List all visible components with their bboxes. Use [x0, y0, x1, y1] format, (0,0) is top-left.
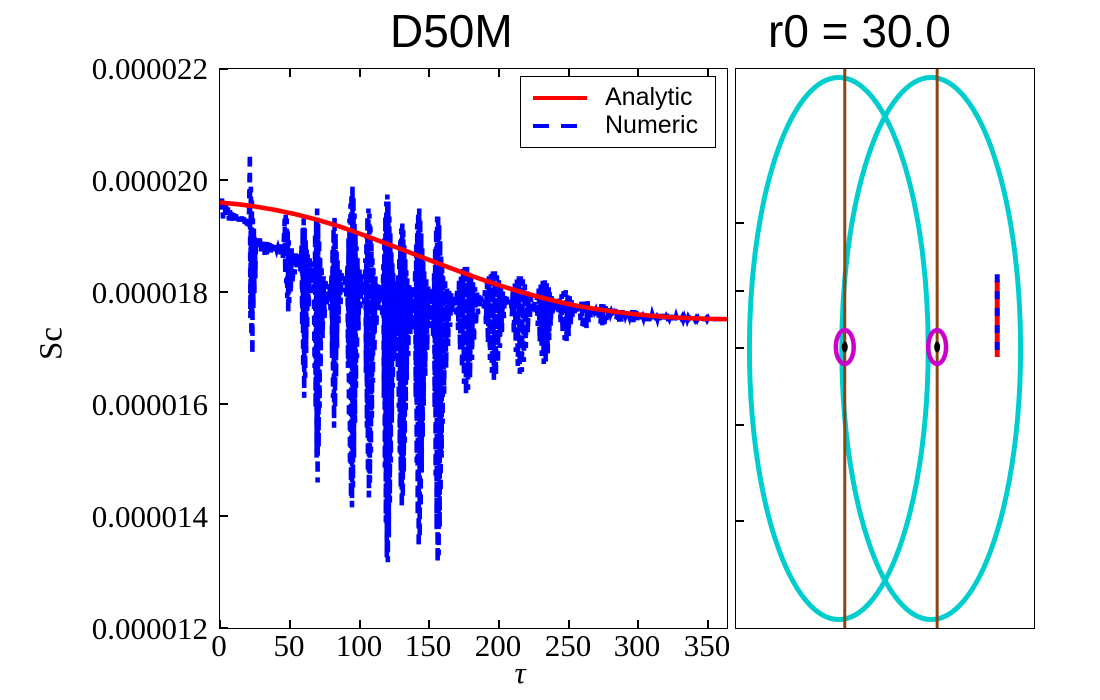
legend-label: Numeric [591, 111, 698, 140]
right-ytick-mark [735, 424, 744, 426]
left-panel-title: D50M [390, 8, 513, 54]
xtick-mark-top [289, 68, 291, 77]
legend-label: Analytic [591, 83, 693, 112]
legend-entry-numeric[interactable]: Numeric [529, 111, 707, 139]
ytick-mark [219, 403, 228, 405]
ytick-label: 0.000014 [28, 501, 208, 532]
ytick-label: 0.000020 [28, 165, 208, 196]
xtick-mark-top [359, 68, 361, 77]
legend-swatch-solid-line-icon [529, 87, 591, 107]
x-axis-label: τ [0, 655, 1100, 691]
legend: Analytic Numeric [520, 76, 716, 148]
xtick-mark-top [428, 68, 430, 77]
y-axis-label: Sc [34, 284, 71, 404]
x-axis-label-text: τ [514, 655, 525, 691]
ytick-label: 0.000012 [28, 613, 208, 644]
figure-canvas: D50M r0 = 30.0 [0, 0, 1100, 700]
legend-entry-analytic[interactable]: Analytic [529, 83, 707, 111]
right-ytick-mark [735, 290, 744, 292]
xtick-mark-top [498, 68, 500, 77]
left-plot-canvas [220, 69, 727, 628]
orbit-ellipse-left [749, 77, 928, 619]
left-plot-axes [219, 68, 728, 629]
ytick-mark [219, 68, 228, 70]
ytick-mark [219, 179, 228, 181]
right-plot-canvas [736, 69, 1034, 628]
right-panel-title: r0 = 30.0 [768, 8, 951, 54]
right-ytick-mark [735, 520, 744, 522]
ytick-mark [219, 515, 228, 517]
right-plot-axes [735, 68, 1035, 629]
body-center-right [934, 342, 940, 353]
body-center-left [842, 342, 848, 353]
legend-swatch-dashed-line-icon [529, 115, 591, 135]
ytick-mark [219, 291, 228, 293]
right-ytick-mark [735, 347, 744, 349]
orbit-ellipse-right [842, 77, 1021, 619]
right-ytick-mark [735, 222, 744, 224]
ytick-label: 0.000022 [28, 53, 208, 84]
